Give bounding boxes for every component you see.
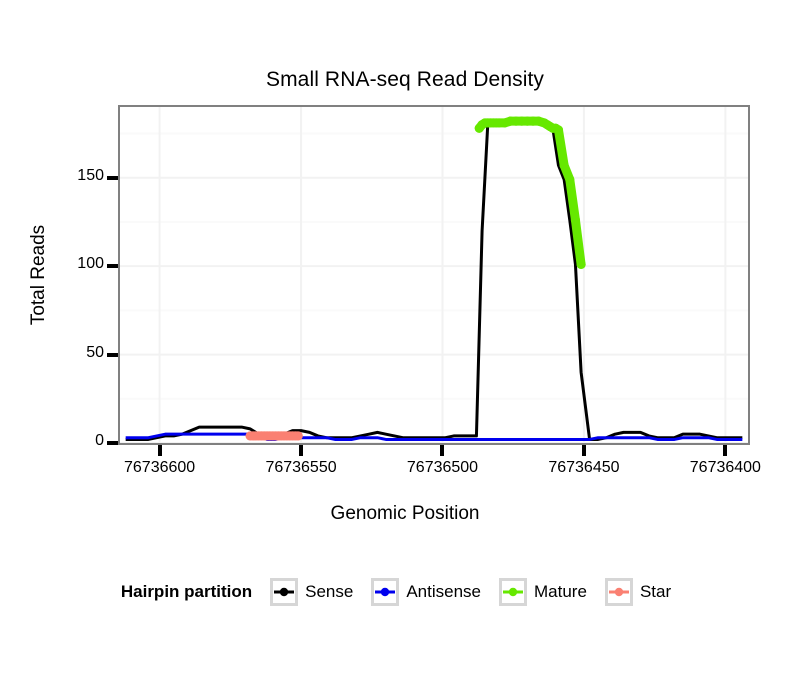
x-tick-mark xyxy=(299,445,303,456)
legend-label: Sense xyxy=(305,582,353,602)
y-tick-label: 100 xyxy=(56,255,104,273)
x-tick-label: 76736400 xyxy=(665,459,785,477)
legend-key-icon xyxy=(605,578,633,606)
legend-label: Antisense xyxy=(406,582,481,602)
plot-area xyxy=(118,105,750,445)
series-point-mature xyxy=(571,216,580,225)
chart-title: Small RNA-seq Read Density xyxy=(0,68,810,92)
legend-title: Hairpin partition xyxy=(121,582,252,602)
series-point-mature xyxy=(565,175,574,184)
series-line-sense xyxy=(126,121,743,439)
legend-entry-sense[interactable]: Sense xyxy=(270,578,365,606)
legend-entry-star[interactable]: Star xyxy=(605,578,683,606)
x-tick-label: 76736450 xyxy=(524,459,644,477)
x-tick-label: 76736600 xyxy=(100,459,220,477)
x-tick-mark xyxy=(723,445,727,456)
y-tick-mark xyxy=(107,264,118,268)
x-tick-label: 76736500 xyxy=(382,459,502,477)
y-axis-label: Total Reads xyxy=(28,180,50,370)
legend-entry-antisense[interactable]: Antisense xyxy=(371,578,493,606)
legend-label: Star xyxy=(640,582,671,602)
chart-legend: Hairpin partition SenseAntisenseMatureSt… xyxy=(0,578,810,606)
x-tick-mark xyxy=(582,445,586,456)
y-tick-label: 50 xyxy=(56,344,104,362)
x-tick-mark xyxy=(440,445,444,456)
series-point-mature xyxy=(554,125,563,134)
y-tick-label: 0 xyxy=(56,432,104,450)
y-tick-label: 150 xyxy=(56,167,104,185)
x-tick-mark xyxy=(158,445,162,456)
y-tick-mark xyxy=(107,441,118,445)
plot-canvas xyxy=(120,107,748,443)
x-tick-label: 76736550 xyxy=(241,459,361,477)
chart-figure: Small RNA-seq Read Density Total Reads 0… xyxy=(0,0,810,690)
legend-key-icon xyxy=(499,578,527,606)
legend-entry-mature[interactable]: Mature xyxy=(499,578,599,606)
y-tick-mark xyxy=(107,353,118,357)
legend-key-icon xyxy=(270,578,298,606)
series-point-mature xyxy=(560,161,569,170)
legend-key-icon xyxy=(371,578,399,606)
x-axis-label: Genomic Position xyxy=(0,503,810,525)
y-tick-mark xyxy=(107,176,118,180)
series-point-star xyxy=(294,431,303,440)
legend-label: Mature xyxy=(534,582,587,602)
series-point-mature xyxy=(577,260,586,269)
